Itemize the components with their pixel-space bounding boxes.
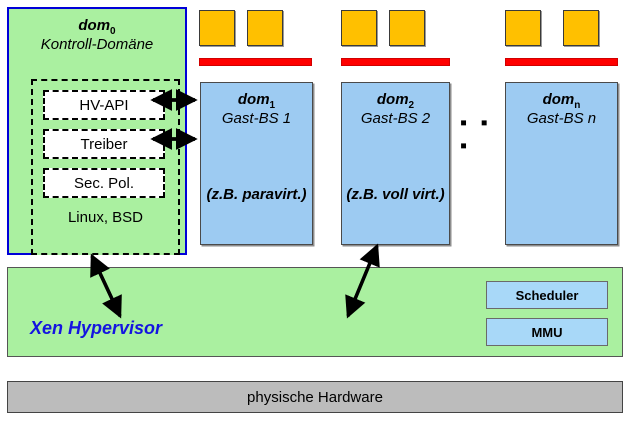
hypervisor-mmu: MMU <box>486 318 608 346</box>
guest-domain-name-1: dom <box>238 91 270 108</box>
module-hv-api: HV-API <box>43 90 165 120</box>
hypervisor-box: Xen Hypervisor Scheduler MMU <box>7 267 623 357</box>
separator-bar <box>341 58 450 66</box>
control-domain-os-label: Linux, BSD <box>33 209 178 226</box>
guest-domain-subtitle-2: Gast-BS 2 <box>342 110 449 127</box>
app-box <box>247 10 283 46</box>
ellipsis: ▪ ▪ ▪ <box>460 112 500 158</box>
guest-domain-subtitle-1: Gast-BS 1 <box>201 110 312 127</box>
app-box <box>505 10 541 46</box>
guest-domain-note-2: (z.B. voll virt.) <box>344 186 447 204</box>
guest-domain-name-n: dom <box>543 91 575 108</box>
app-box <box>389 10 425 46</box>
guest-domain-box-1: dom1 Gast-BS 1 (z.B. paravirt.) <box>200 82 313 245</box>
guest-domain-title-1: dom1 <box>201 91 312 112</box>
separator-bar <box>505 58 618 66</box>
hypervisor-scheduler: Scheduler <box>486 281 608 309</box>
physical-hardware-box: physische Hardware <box>7 381 623 413</box>
guest-domain-title-n: domn <box>506 91 617 112</box>
app-box <box>341 10 377 46</box>
hypervisor-label: Xen Hypervisor <box>30 318 162 339</box>
control-domain-os-container: HV-API Treiber Sec. Pol. Linux, BSD <box>31 79 180 255</box>
guest-domain-box-n: domn Gast-BS n <box>505 82 618 245</box>
control-domain-box: dom0 Kontroll-Domäne HV-API Treiber Sec.… <box>7 7 187 255</box>
guest-domain-name-2: dom <box>377 91 409 108</box>
guest-domain-title-2: dom2 <box>342 91 449 112</box>
guest-domain-note-1: (z.B. paravirt.) <box>203 186 310 204</box>
app-box <box>199 10 235 46</box>
guest-domain-box-2: dom2 Gast-BS 2 (z.B. voll virt.) <box>341 82 450 245</box>
app-box <box>563 10 599 46</box>
module-sec-pol: Sec. Pol. <box>43 168 165 198</box>
guest-domain-subtitle-n: Gast-BS n <box>506 110 617 127</box>
control-domain-subtitle: Kontroll-Domäne <box>9 36 185 53</box>
control-domain-name: dom <box>78 17 110 34</box>
separator-bar <box>199 58 312 66</box>
xen-architecture-diagram: dom0 Kontroll-Domäne HV-API Treiber Sec.… <box>0 0 630 423</box>
module-treiber: Treiber <box>43 129 165 159</box>
control-domain-title: dom0 <box>9 17 185 38</box>
